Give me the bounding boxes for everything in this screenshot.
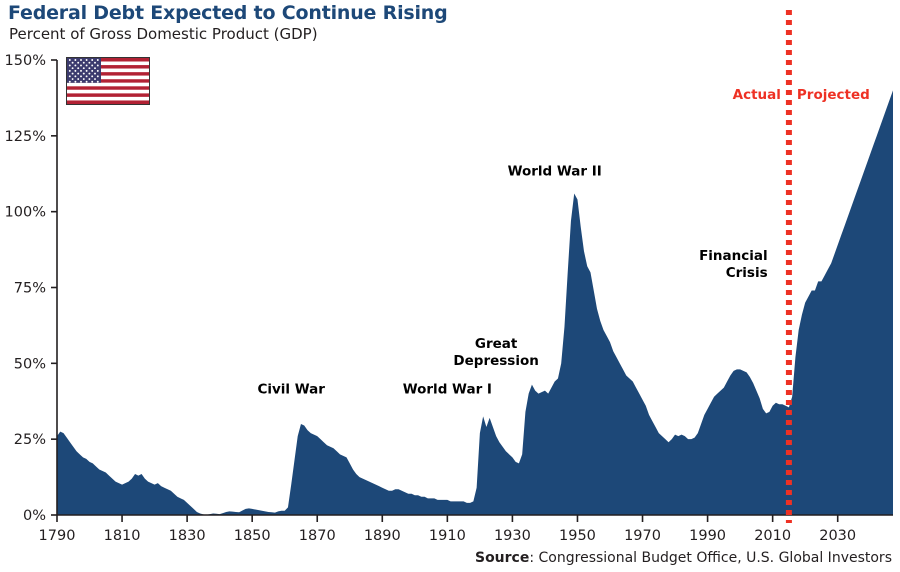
- x-axis-ticks: 1790181018301850187018901910193019501970…: [39, 515, 857, 544]
- y-tick-label: 125%: [5, 129, 46, 145]
- x-tick-label: 1830: [169, 528, 206, 544]
- x-tick-label: 1970: [624, 528, 661, 544]
- y-tick-label: 75%: [14, 281, 46, 297]
- x-tick-label: 2030: [819, 528, 856, 544]
- chart-plot-area: [57, 90, 893, 515]
- annotation-label: Crisis: [726, 265, 768, 281]
- annotation-label: Great: [475, 336, 518, 352]
- projected-label: Projected: [797, 87, 870, 103]
- annotation-label: Civil War: [257, 382, 325, 398]
- x-tick-label: 1910: [429, 528, 466, 544]
- annotation-label: World War II: [508, 163, 602, 179]
- x-tick-label: 2010: [754, 528, 791, 544]
- y-tick-label: 100%: [5, 205, 46, 221]
- annotation-label: World War I: [403, 382, 492, 398]
- y-tick-label: 50%: [14, 356, 46, 372]
- x-tick-label: 1890: [364, 528, 401, 544]
- x-tick-label: 1930: [494, 528, 531, 544]
- debt-area-series: [57, 90, 893, 515]
- debt-area-chart: 0%25%50%75%100%125%150% 1790181018301850…: [0, 0, 900, 572]
- y-tick-label: 25%: [14, 432, 46, 448]
- x-tick-label: 1790: [39, 528, 76, 544]
- source-text: : Congressional Budget Office, U.S. Glob…: [529, 550, 892, 566]
- actual-label: Actual: [733, 87, 781, 103]
- chart-root: Federal Debt Expected to Continue Rising…: [0, 0, 900, 572]
- y-tick-label: 150%: [5, 53, 46, 69]
- y-tick-label: 0%: [23, 508, 46, 524]
- x-tick-label: 1810: [104, 528, 141, 544]
- annotation-label: Financial: [699, 248, 768, 264]
- y-axis-ticks: 0%25%50%75%100%125%150%: [5, 53, 57, 524]
- x-tick-label: 1870: [299, 528, 336, 544]
- x-tick-label: 1990: [689, 528, 726, 544]
- x-tick-label: 1850: [234, 528, 271, 544]
- annotation-label: Depression: [453, 353, 538, 369]
- source-prefix: Source: [475, 550, 529, 566]
- chart-annotations: Civil WarWorld War IGreatDepressionWorld…: [257, 163, 767, 397]
- source-note: Source: Congressional Budget Office, U.S…: [475, 550, 892, 566]
- x-tick-label: 1950: [559, 528, 596, 544]
